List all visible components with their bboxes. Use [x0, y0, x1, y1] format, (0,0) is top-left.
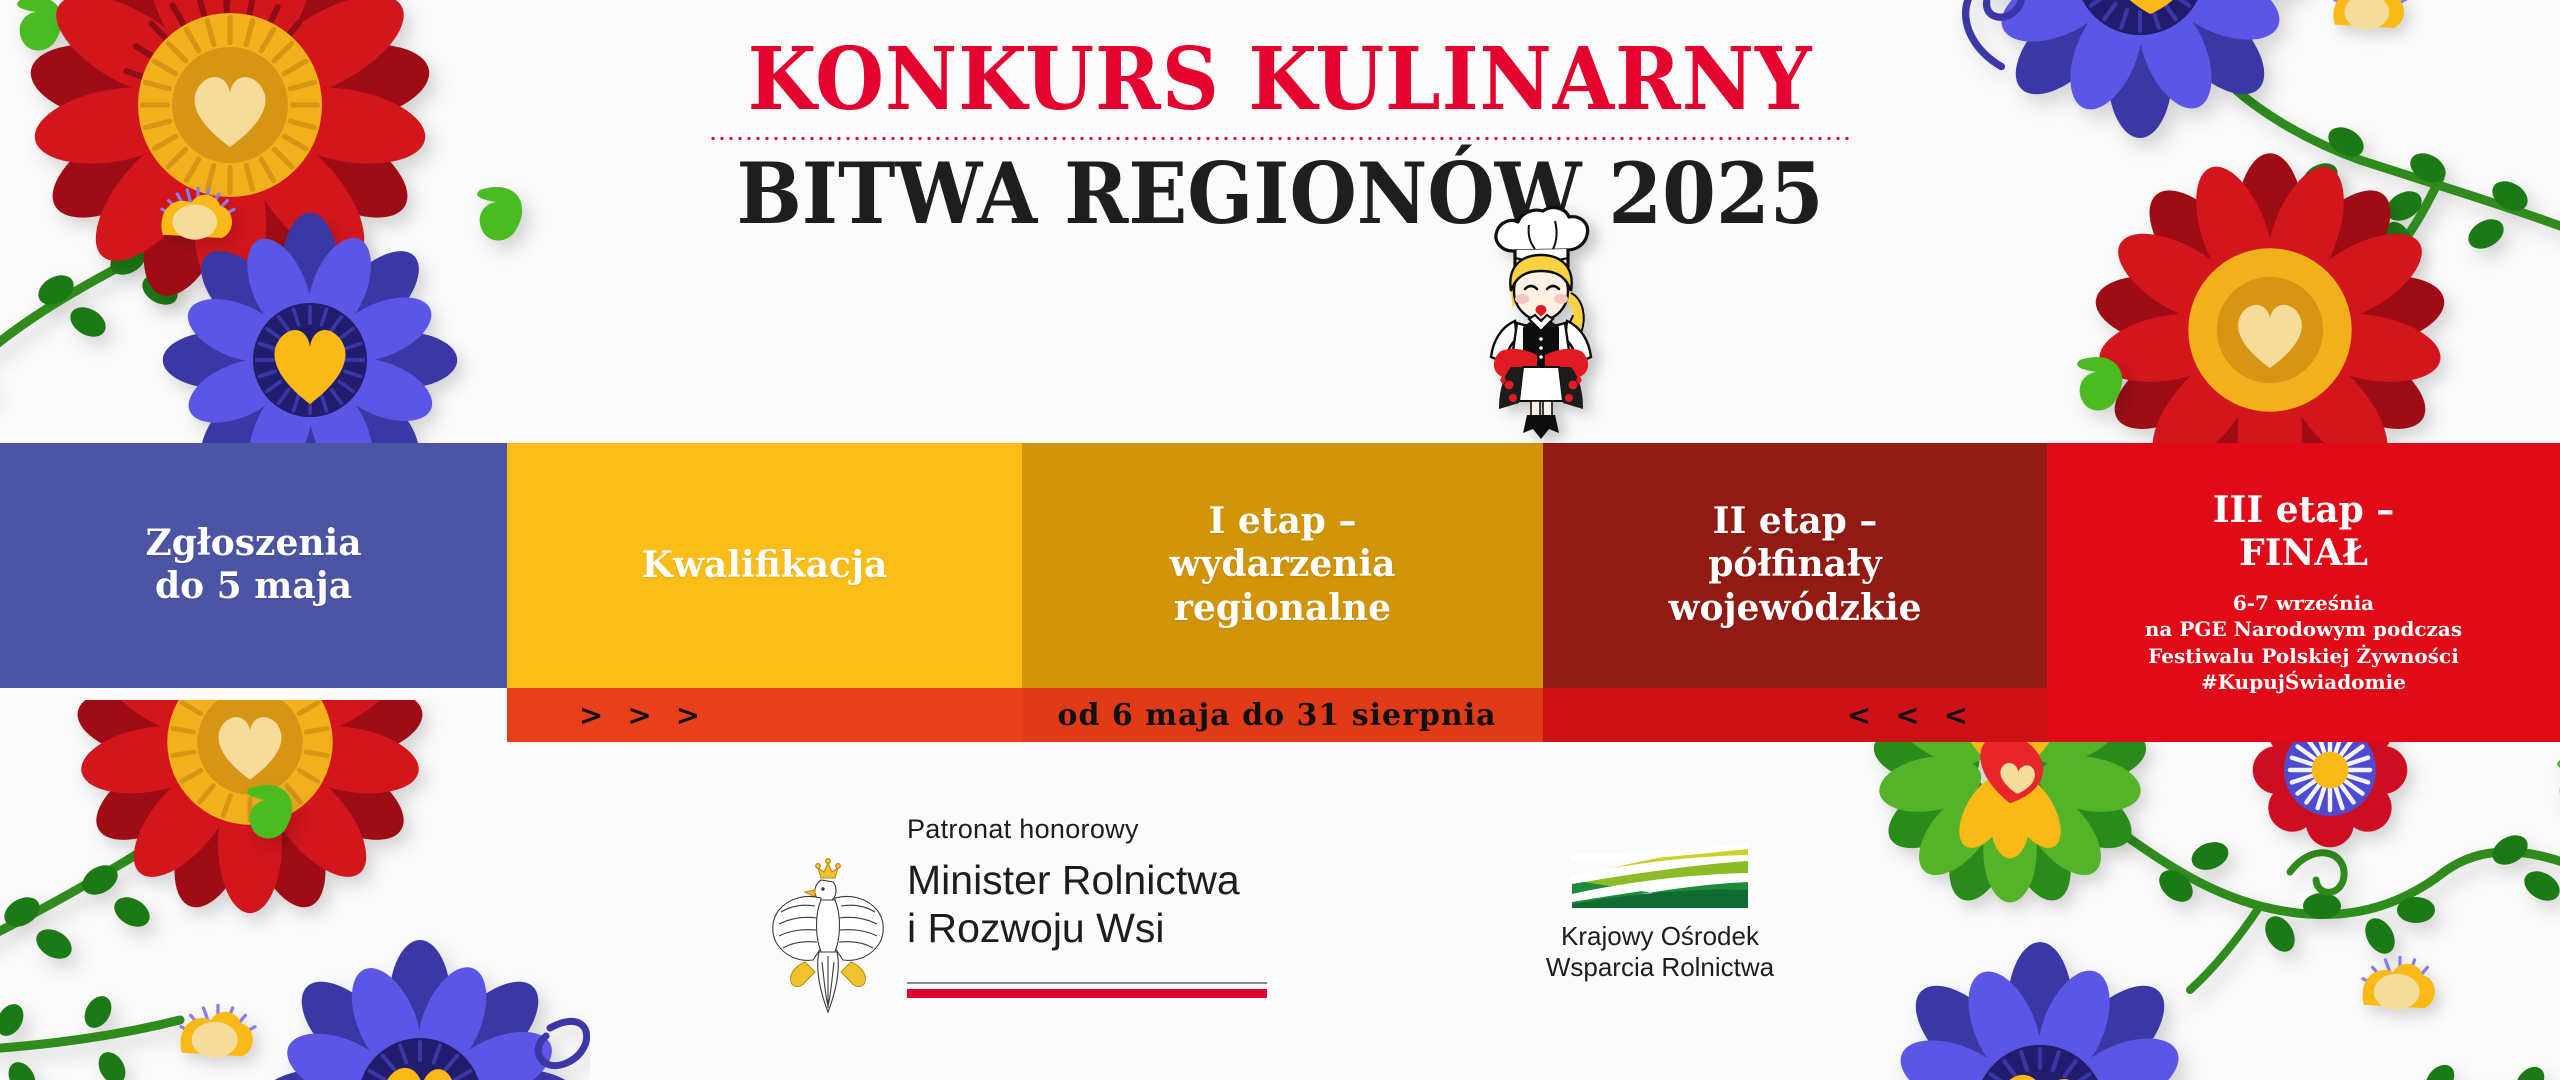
kowr-name: Krajowy Ośrodek Wsparcia Rolnictwa — [1510, 921, 1810, 983]
red-rule — [907, 989, 1267, 998]
page-title: KONKURS KULINARNY — [102, 36, 2457, 124]
timeline-banner: Zgłoszenia do 5 maja Kwalifikacja I etap… — [0, 443, 2560, 742]
timeline-segment-label: Kwalifikacja — [507, 544, 1022, 588]
footer-logos: Patronat honorowy — [0, 810, 2560, 1040]
patronage-label: Patronat honorowy — [907, 814, 1139, 845]
ministry-rules — [907, 982, 1267, 998]
timeline-segment-label: Zgłoszenia do 5 maja — [0, 522, 507, 610]
final-title: III etap – FINAŁ — [2213, 489, 2395, 575]
date-band-content: > > > od 6 maja do 31 sierpnia < < < — [507, 688, 2047, 742]
grey-rule — [907, 982, 1267, 984]
final-detail: 6-7 września na PGE Narodowym podczas Fe… — [2145, 590, 2462, 696]
poster-headline: KONKURS KULINARNY BITWA REGIONÓW 2025 — [0, 36, 2560, 236]
timeline-segment-zgloszenia[interactable]: Zgłoszenia do 5 maja — [0, 443, 507, 688]
ministry-name: Minister Rolnictwa i Rozwoju Wsi — [907, 856, 1240, 953]
date-range-label: od 6 maja do 31 sierpnia — [1057, 698, 1496, 733]
folk-bud-small — [2332, 0, 2408, 30]
kowr-logo-block: Krajowy Ośrodek Wsparcia Rolnictwa — [1510, 840, 1810, 1000]
timeline-segment-label: II etap – półfinały wojewódzkie — [1543, 500, 2047, 632]
chevrons-right-icon: > > > — [579, 698, 707, 732]
polish-eagle-icon — [765, 852, 891, 1020]
chevrons-left-icon: < < < — [1847, 698, 1975, 732]
page-subtitle: BITWA REGIONÓW 2025 — [102, 151, 2457, 237]
kowr-mark-icon — [1570, 840, 1750, 912]
timeline-segment-etap-1[interactable]: I etap – wydarzenia regionalne — [1022, 443, 1543, 688]
timeline-segment-final[interactable]: III etap – FINAŁ 6-7 września na PGE Nar… — [2047, 443, 2560, 742]
timeline-segment-kwalifikacja[interactable]: Kwalifikacja — [507, 443, 1022, 688]
dotted-rule-top — [710, 136, 1850, 141]
timeline-segment-label: I etap – wydarzenia regionalne — [1022, 500, 1543, 632]
folk-chef-girl-mascot — [1455, 205, 1635, 445]
leaf-accent — [2077, 357, 2122, 411]
timeline-segment-etap-2[interactable]: II etap – półfinały wojewódzkie — [1543, 443, 2047, 688]
ministry-logo-block: Patronat honorowy — [755, 810, 1355, 1010]
